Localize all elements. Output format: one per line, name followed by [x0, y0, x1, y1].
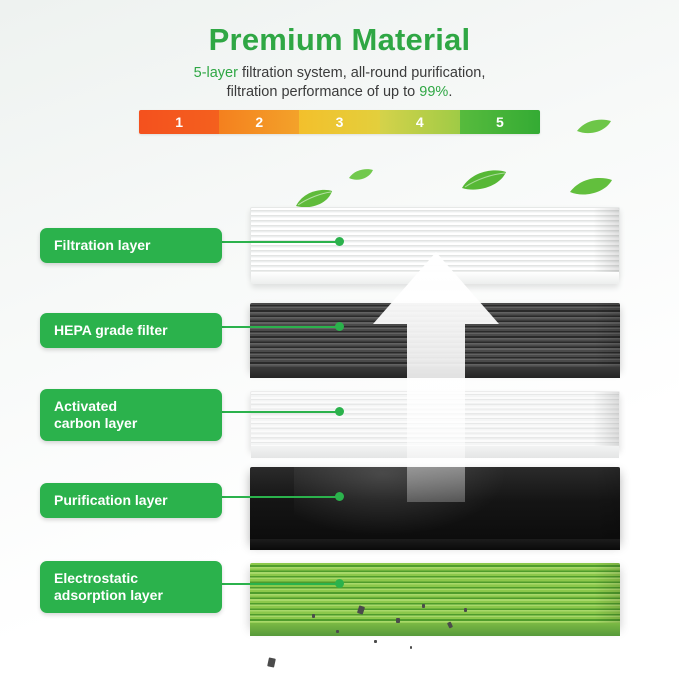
particle [447, 621, 453, 628]
label-activated-carbon: Activated carbon layer [40, 389, 222, 441]
subtitle-line-1: 5-layer filtration system, all-round pur… [0, 64, 679, 83]
step-indicator-bar: 1 2 3 4 5 [139, 110, 540, 134]
leaf-icon [348, 168, 374, 182]
connector-dot [335, 237, 344, 246]
layer-edge-shade [594, 563, 620, 625]
connector-dot [335, 322, 344, 331]
subtitle-line-2-pre: filtration performance of up to [227, 84, 420, 100]
particle [410, 646, 412, 649]
leaf-icon [460, 168, 508, 192]
particle [464, 608, 467, 612]
label-filtration-layer: Filtration layer [40, 228, 222, 263]
step-5: 5 [460, 110, 540, 134]
page-title: Premium Material [0, 22, 679, 58]
connector-line [222, 583, 342, 585]
layer-hepa [250, 303, 620, 369]
connector-line [222, 411, 342, 413]
step-2: 2 [219, 110, 299, 134]
subtitle: 5-layer filtration system, all-round pur… [0, 64, 679, 102]
particle [422, 604, 425, 608]
particle [357, 605, 365, 614]
connector-dot [335, 407, 344, 416]
layer-edge-shade [593, 392, 619, 448]
particle [374, 640, 377, 643]
filter-layer-stack [250, 195, 640, 625]
label-hepa-grade-filter: HEPA grade filter [40, 313, 222, 348]
layer-activated-carbon [250, 391, 620, 449]
layer-edge-shade [594, 303, 620, 369]
connector-line [222, 241, 342, 243]
connector-line [222, 496, 342, 498]
subtitle-line-2: filtration performance of up to 99%. [0, 83, 679, 102]
subtitle-line-1-rest: filtration system, all-round purificatio… [238, 65, 485, 81]
subtitle-line-2-post: . [448, 84, 452, 100]
step-4: 4 [380, 110, 460, 134]
step-1: 1 [139, 110, 219, 134]
particle [312, 614, 315, 618]
leaf-icon [576, 118, 612, 136]
connector-dot [335, 492, 344, 501]
particle [267, 657, 276, 667]
dust-particles [250, 600, 550, 675]
layer-edge-shade [594, 467, 620, 541]
subtitle-highlight-percent: 99% [419, 84, 448, 100]
label-purification-layer: Purification layer [40, 483, 222, 518]
connector-line [222, 326, 342, 328]
layer-edge-shade [593, 208, 619, 274]
step-3: 3 [299, 110, 379, 134]
particle [396, 618, 400, 623]
product-infographic: Premium Material 5-layer filtration syst… [0, 0, 679, 679]
connector-dot [335, 579, 344, 588]
layer-purification [250, 467, 620, 541]
label-electrostatic: Electrostatic adsorption layer [40, 561, 222, 613]
particle [336, 630, 339, 633]
subtitle-highlight-layers: 5-layer [194, 65, 238, 81]
